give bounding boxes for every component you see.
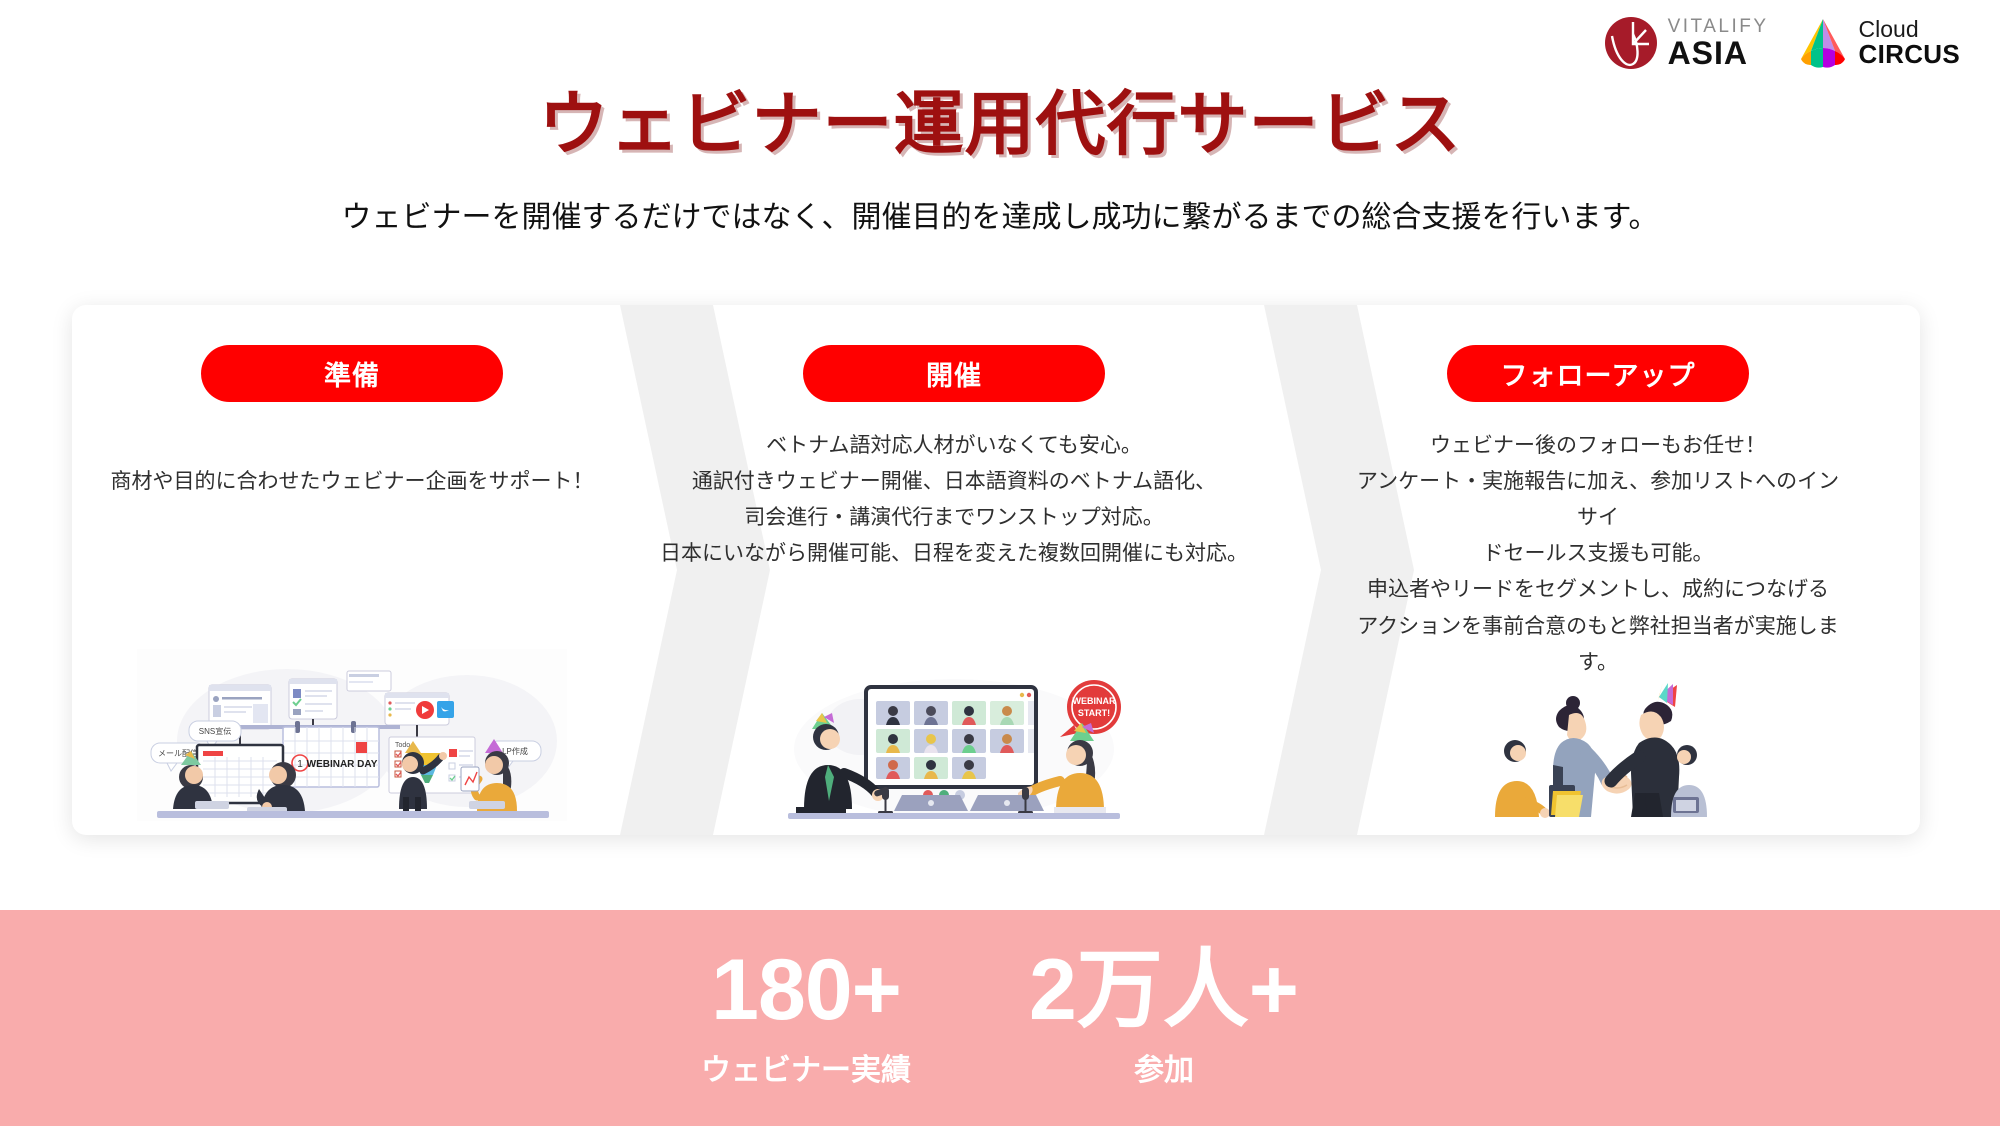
step-description-preparation: 商材や目的に合わせたウェビナー企画をサポート！ [72,464,632,500]
stat-participants-label: 参加 [1029,1045,1299,1089]
step-description-followup: ウェビナー後のフォローもお任せ！ アンケート・実施報告に加え、参加リストへのイン… [1276,428,1920,681]
step-card-preparation: 準備 商材や目的に合わせたウェビナー企画をサポート！ [72,305,632,835]
cloud-circus-fan-icon [1795,17,1851,69]
vitalify-globe-icon [1602,14,1660,72]
step-badge-followup: フォローアップ [1447,345,1749,402]
stat-participants: 2万人+ 参加 [1029,947,1299,1089]
stat-webinars: 180+ ウェビナー実績 [701,947,911,1089]
stat-webinars-number: 180+ [701,947,911,1033]
step-description-hosting: ベトナム語対応人材がいなくても安心。 通訳付きウェビナー開催、日本語資料のベトナ… [632,428,1276,572]
page-subtitle: ウェビナーを開催するだけではなく、開催目的を達成し成功に繋がるまでの総合支援を行… [0,192,2000,236]
vitalify-wordmark-bottom: ASIA [1668,37,1769,69]
page-title: ウェビナー運用代行サービス [0,68,2000,169]
svg-text:START!: START! [1078,708,1110,718]
stats-banner: 180+ ウェビナー実績 2万人+ 参加 [0,910,2000,1126]
stat-webinars-label: ウェビナー実績 [701,1045,911,1089]
stat-participants-number: 2万人+ [1029,947,1299,1033]
cloud-circus-wordmark-top: Cloud [1859,18,1960,41]
step-card-hosting: 開催 ベトナム語対応人材がいなくても安心。 通訳付きウェビナー開催、日本語資料の… [632,305,1276,835]
step-card-followup: フォローアップ ウェビナー後のフォローもお任せ！ アンケート・実施報告に加え、参… [1276,305,1920,835]
cloud-circus-logo: Cloud CIRCUS [1795,17,1960,69]
brand-logos: VITALIFY ASIA Cloud CIRCUS [1602,14,1960,72]
webinar-preparation-illustration: 1 WEBINAR DAY Todo [72,649,632,821]
webinar-live-illustration: WEBINAR START! [632,669,1276,821]
vitalify-wordmark-top: VITALIFY [1668,17,1769,36]
steps-panel: 準備 商材や目的に合わせたウェビナー企画をサポート！ [72,305,1920,835]
svg-text:1: 1 [297,759,303,770]
vitalify-asia-logo: VITALIFY ASIA [1602,14,1769,72]
cloud-circus-wordmark-bottom: CIRCUS [1859,41,1960,68]
svg-text:WEBINAR: WEBINAR [1073,696,1116,706]
step-badge-preparation: 準備 [201,345,503,402]
svg-text:LP作成: LP作成 [502,746,528,756]
svg-text:SNS宣伝: SNS宣伝 [199,726,231,736]
step-badge-hosting: 開催 [803,345,1105,402]
svg-text:WEBINAR DAY: WEBINAR DAY [307,759,378,770]
handshake-followup-illustration [1276,681,1920,821]
svg-text:Todo: Todo [395,742,410,749]
